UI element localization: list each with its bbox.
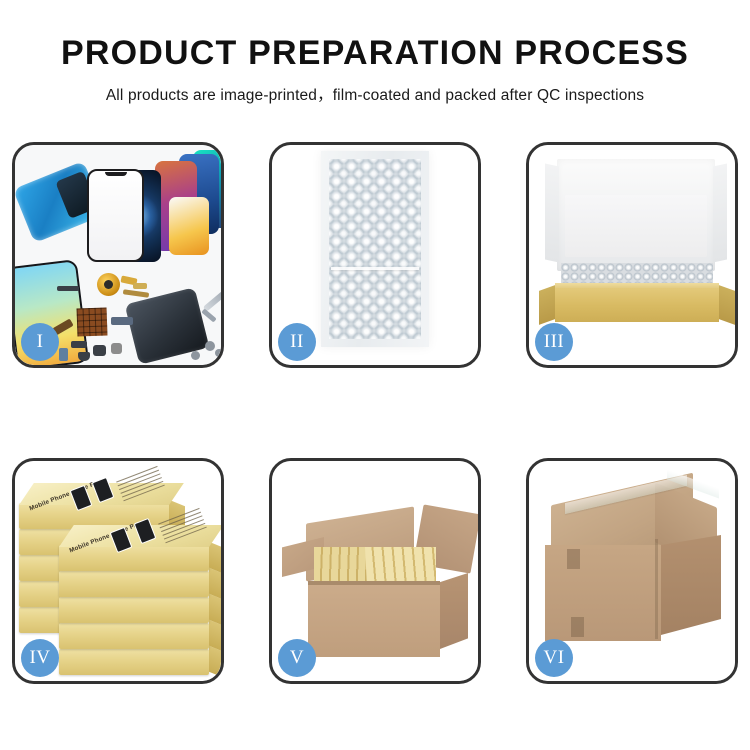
step-panel-4: Mobile Phone Spare Parts Mobile Phone Sp xyxy=(12,458,224,684)
step-panel-5: V xyxy=(269,458,481,684)
header: PRODUCT PREPARATION PROCESS All products… xyxy=(0,0,750,105)
carton-handle-notch xyxy=(571,617,584,637)
pouch-seam xyxy=(331,267,419,270)
carton-front-face xyxy=(308,585,440,657)
chip-array-part xyxy=(77,307,108,336)
step-badge-3: III xyxy=(535,323,573,361)
step-badge-2: II xyxy=(278,323,316,361)
step-panel-3: III xyxy=(526,142,738,368)
page-subtitle: All products are image-printed，film-coat… xyxy=(0,83,750,105)
step-panel-2: II xyxy=(269,142,481,368)
foam-padding xyxy=(565,195,707,257)
gold-box-front xyxy=(555,288,719,322)
carton-side-face xyxy=(440,573,468,649)
step-badge-6: VI xyxy=(535,639,573,677)
page-title: PRODUCT PREPARATION PROCESS xyxy=(0,34,750,73)
sealed-carton-side-face xyxy=(661,535,721,635)
carton-corner-seam xyxy=(655,539,658,639)
step-panel-6: VI xyxy=(526,458,738,684)
notch-icon xyxy=(105,172,127,176)
glass-screen-protector xyxy=(87,169,144,262)
carton-handle-notch xyxy=(567,549,580,569)
copper-coil-part xyxy=(97,273,120,296)
bubble-pattern-overlay xyxy=(329,159,421,339)
step-badge-5: V xyxy=(278,639,316,677)
process-steps-grid: I II III xyxy=(12,142,738,684)
product-preparation-infographic: PRODUCT PREPARATION PROCESS All products… xyxy=(0,0,750,750)
sealed-carton-front-face xyxy=(545,545,661,641)
step-panel-1: I xyxy=(12,142,224,368)
step-badge-1: I xyxy=(21,323,59,361)
bubble-wrap-pouch xyxy=(321,151,429,347)
step-badge-4: IV xyxy=(21,639,59,677)
amber-gradient-phone xyxy=(169,197,209,255)
